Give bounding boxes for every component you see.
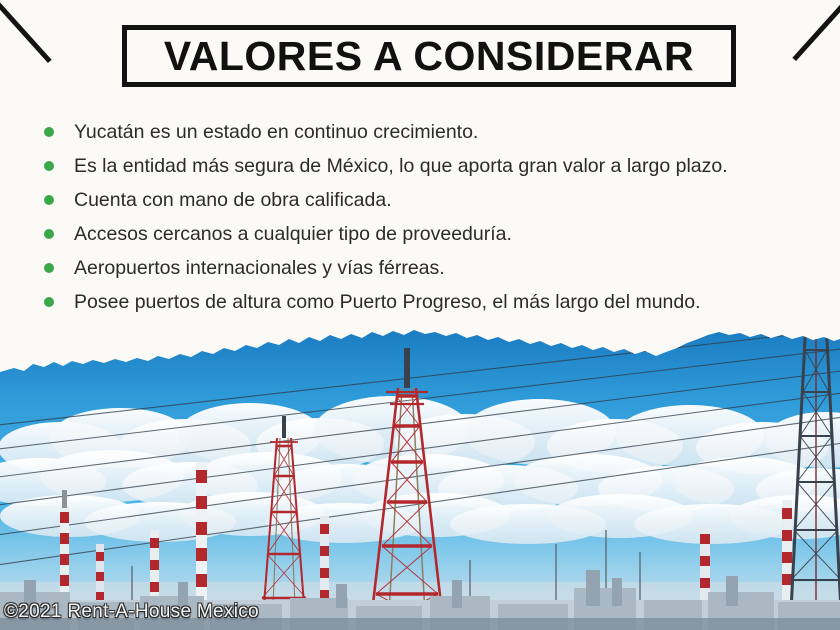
corner-diagonal-top-left-icon <box>0 0 52 63</box>
title-box: VALORES A CONSIDERAR <box>122 25 736 87</box>
corner-diagonal-top-right-icon <box>792 0 840 61</box>
slide-canvas: VALORES A CONSIDERAR Yucatán es un estad… <box>0 0 840 630</box>
list-item-label: Aeropuertos internacionales y vías férre… <box>74 254 445 282</box>
industrial-photo <box>0 330 840 630</box>
page-title: VALORES A CONSIDERAR <box>164 36 694 77</box>
bullet-dot-icon <box>44 127 54 137</box>
list-item-label: Es la entidad más segura de México, lo q… <box>74 152 728 180</box>
bullet-dot-icon <box>44 297 54 307</box>
watermark: ©2021 Rent-A-House Mexico <box>4 601 259 623</box>
list-item: Cuenta con mano de obra calificada. <box>44 186 824 220</box>
list-item-label: Posee puertos de altura como Puerto Prog… <box>74 288 701 316</box>
list-item: Yucatán es un estado en continuo crecimi… <box>44 118 824 152</box>
list-item: Aeropuertos internacionales y vías férre… <box>44 254 824 288</box>
list-item: Accesos cercanos a cualquier tipo de pro… <box>44 220 824 254</box>
photo-illustration <box>0 330 840 630</box>
list-item-label: Yucatán es un estado en continuo crecimi… <box>74 118 478 146</box>
list-item-label: Accesos cercanos a cualquier tipo de pro… <box>74 220 512 248</box>
bullet-dot-icon <box>44 161 54 171</box>
bullet-dot-icon <box>44 263 54 273</box>
list-item: Posee puertos de altura como Puerto Prog… <box>44 288 824 322</box>
bullet-list: Yucatán es un estado en continuo crecimi… <box>44 118 824 322</box>
list-item: Es la entidad más segura de México, lo q… <box>44 152 824 186</box>
bullet-dot-icon <box>44 195 54 205</box>
bullet-dot-icon <box>44 229 54 239</box>
list-item-label: Cuenta con mano de obra calificada. <box>74 186 392 214</box>
